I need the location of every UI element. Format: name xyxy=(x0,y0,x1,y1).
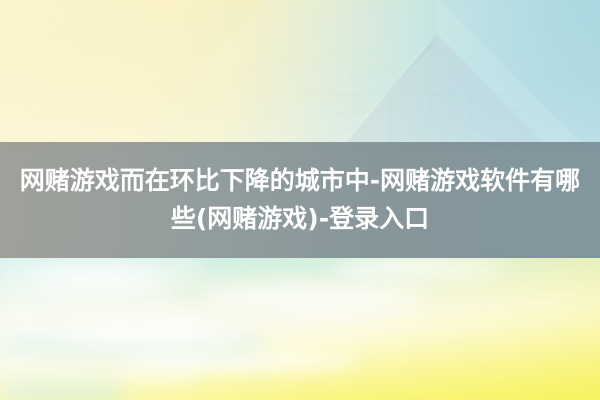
title-text-container: 网赌游戏而在环比下降的城市中-网赌游戏软件有哪 些(网赌游戏)-登录入口 xyxy=(0,142,600,258)
promo-banner: 网赌游戏而在环比下降的城市中-网赌游戏软件有哪 些(网赌游戏)-登录入口 xyxy=(0,0,600,400)
title-line-2: 些(网赌游戏)-登录入口 xyxy=(171,200,429,238)
chevron-pattern-overlay xyxy=(0,0,600,150)
title-line-1: 网赌游戏而在环比下降的城市中-网赌游戏软件有哪 xyxy=(20,162,580,200)
bottom-gradient-warm-overlay xyxy=(0,255,600,400)
chevron-pattern-svg xyxy=(0,0,600,150)
